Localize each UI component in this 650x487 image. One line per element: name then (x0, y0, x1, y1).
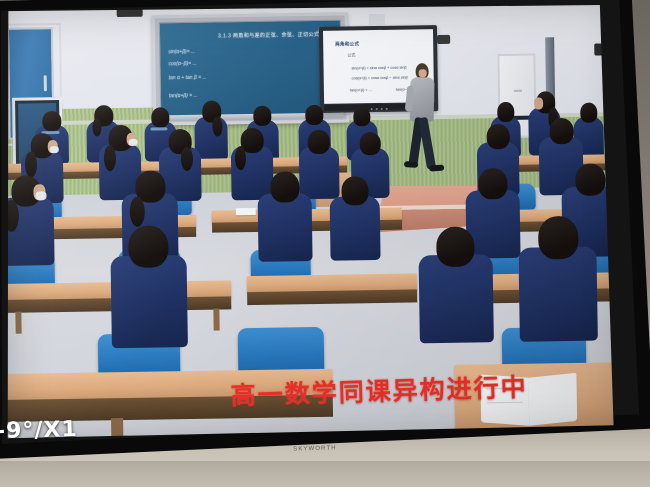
blackboard-line: tan α + tan β = ... (169, 75, 207, 82)
slide-row: sin(α+β) = sinα cosβ + cosα sinβ (352, 66, 407, 71)
student-head (486, 124, 509, 149)
student (231, 146, 274, 201)
blackboard-line: tan(α+β) = ... (169, 93, 198, 99)
osd-temperature-readout: -9°/X1 (0, 417, 78, 444)
classroom-scene: 3.1.3 两角和与差的正弦、余弦、正切公式 sin(α+β)= ... cos… (4, 5, 626, 440)
slide-heading: 两角和公式 (335, 41, 359, 47)
student-head (42, 111, 61, 131)
whiteboard-button-dot[interactable] (381, 107, 383, 109)
student-head (580, 103, 597, 123)
projector-mount (369, 14, 385, 25)
student-head (308, 130, 330, 154)
whiteboard-buttons[interactable] (371, 107, 388, 109)
student-head (549, 118, 573, 144)
student (419, 254, 494, 343)
student-head (575, 163, 605, 195)
teacher-face (419, 69, 427, 77)
student-ponytail (25, 151, 37, 177)
door-handle-icon (44, 75, 47, 91)
student-uniform (299, 147, 340, 200)
student-head (128, 225, 169, 268)
floor-shadow-band (0, 461, 650, 487)
wall-speaker-icon (437, 35, 450, 44)
student-head (478, 168, 507, 199)
whiteboard-button-dot[interactable] (371, 108, 373, 110)
student-face (534, 97, 543, 109)
student-head (353, 107, 370, 126)
blackboard-line: cos(α−β)= ... (168, 61, 196, 67)
blackboard-surface: 3.1.3 两角和与差的正弦、余弦、正切公式 sin(α+β)= ... cos… (159, 20, 342, 119)
slide-row: tan(α+β) = ... (350, 88, 372, 92)
student-head (253, 106, 271, 126)
teacher-torso (410, 77, 435, 121)
face-mask (129, 139, 138, 146)
slide-subheading: 公式 (347, 52, 355, 58)
student (258, 193, 313, 262)
student-uniform (419, 254, 494, 343)
monitor-brand-label: SKYWORTH (284, 445, 346, 456)
student (299, 147, 340, 200)
student-ponytail (212, 116, 222, 136)
video-screen[interactable]: 3.1.3 两角和与差的正弦、余弦、正切公式 sin(α+β)= ... cos… (4, 5, 626, 440)
student-uniform (330, 196, 381, 261)
student-chair (238, 327, 325, 374)
student (330, 196, 381, 261)
student-collar (150, 127, 167, 130)
student-head (270, 171, 299, 202)
student-head (341, 176, 368, 205)
blackboard-line: sin(α+β)= ... (168, 49, 195, 55)
student-uniform (258, 193, 313, 262)
teacher-shoe (429, 165, 444, 172)
student (4, 197, 55, 266)
student-head (497, 102, 514, 122)
student-head (436, 227, 475, 268)
student-ponytail (130, 197, 145, 227)
desk-leg (213, 309, 219, 331)
book-page-right (528, 373, 577, 426)
cabinet-handle-icon (514, 90, 522, 92)
whiteboard-button-dot[interactable] (386, 107, 388, 109)
photograph-of-monitor: 3.1.3 两角和与差的正弦、余弦、正切公式 sin(α+β)= ... cos… (0, 0, 650, 487)
student (110, 255, 187, 348)
student-uniform (518, 247, 597, 342)
desk-paper (236, 208, 256, 215)
student-head (360, 132, 381, 155)
student (518, 247, 597, 342)
student-ponytail (235, 146, 246, 170)
desk-leg (15, 312, 21, 334)
student-head (305, 105, 323, 125)
student-ponytail (181, 147, 193, 171)
slide-row: cos(α+β) = cosα cosβ − sinα sinβ (352, 76, 408, 81)
student-head (538, 216, 579, 260)
teacher-shoe (404, 161, 418, 168)
whiteboard-button-dot[interactable] (376, 108, 378, 110)
desk-apron (247, 289, 417, 305)
student-ponytail (92, 118, 101, 136)
student-head (151, 107, 169, 127)
face-mask (50, 146, 59, 153)
student-uniform (110, 255, 187, 348)
student-ponytail (104, 145, 116, 171)
blackboard-title: 3.1.3 两角和与差的正弦、余弦、正切公式 (218, 31, 319, 40)
face-mask (35, 191, 46, 200)
